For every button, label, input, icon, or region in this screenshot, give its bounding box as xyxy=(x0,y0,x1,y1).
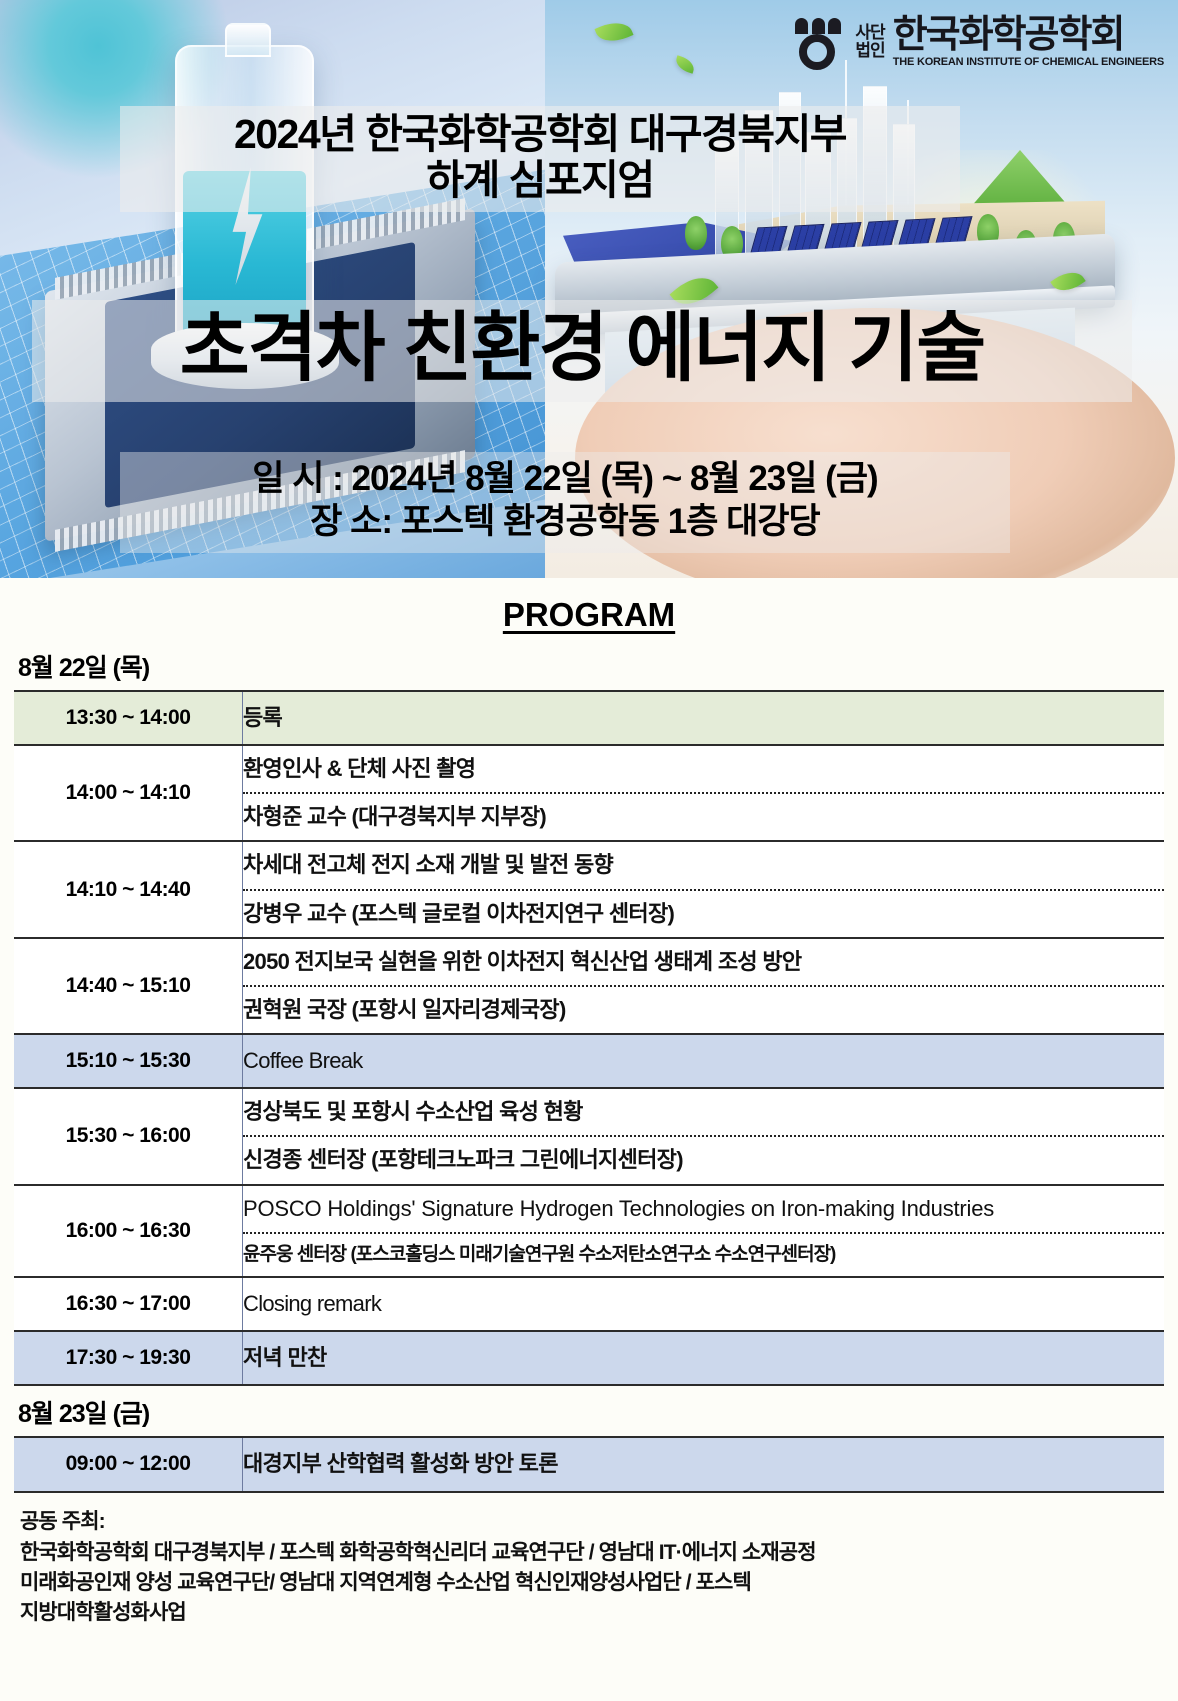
row-session-title: 등록 xyxy=(243,692,1164,744)
row-body: 저녁 만찬 xyxy=(243,1331,1165,1385)
row-session-title: POSCO Holdings' Signature Hydrogen Techn… xyxy=(243,1186,1164,1232)
row-body: 차세대 전고체 전지 소재 개발 및 발전 동향 강병우 교수 (포스텍 글로컬… xyxy=(243,841,1165,937)
logo-sadan-line1: 사단 xyxy=(855,24,884,42)
schedule-table-day2: 09:00 ~ 12:00 대경지부 산학협력 활성화 방안 토론 xyxy=(14,1436,1164,1492)
emblem-bumps xyxy=(795,18,841,34)
logo-english-name: THE KOREAN INSTITUTE OF CHEMICAL ENGINEE… xyxy=(893,56,1164,68)
logo-name-block: 한국화학공학회 THE KOREAN INSTITUTE OF CHEMICAL… xyxy=(893,16,1164,68)
row-session-title: 경상북도 및 포항시 수소산업 육성 현황 xyxy=(243,1089,1164,1135)
table-row: 14:00 ~ 14:10 환영인사 & 단체 사진 촬영 차형준 교수 (대구… xyxy=(14,745,1164,841)
table-row: 14:40 ~ 15:10 2050 전지보국 실현을 위한 이차전지 혁신산업… xyxy=(14,938,1164,1034)
row-body: 경상북도 및 포항시 수소산업 육성 현황 신경종 센터장 (포항테크노파크 그… xyxy=(243,1088,1165,1184)
row-speaker: 윤주웅 센터장 (포스코홀딩스 미래기술연구원 수소저탄소연구소 수소연구센터장… xyxy=(243,1232,1164,1276)
row-session-title: 대경지부 산학협력 활성화 방안 토론 xyxy=(243,1438,1164,1490)
event-subject-text: 초격차 친환경 에너지 기술 xyxy=(32,308,1132,390)
row-speaker: 권혁원 국장 (포항시 일자리경제국장) xyxy=(243,985,1164,1033)
event-location: 장 소: 포스텍 환경공학동 1층 대강당 xyxy=(120,501,1010,544)
row-session-title: 차세대 전고체 전지 소재 개발 및 발전 동향 xyxy=(243,842,1164,888)
row-body: 대경지부 산학협력 활성화 방안 토론 xyxy=(243,1437,1165,1491)
leaf-icon xyxy=(594,16,633,47)
row-body: 환영인사 & 단체 사진 촬영 차형준 교수 (대구경북지부 지부장) xyxy=(243,745,1165,841)
row-time: 14:00 ~ 14:10 xyxy=(14,745,243,841)
kiche-emblem-icon xyxy=(791,14,847,70)
row-body: POSCO Holdings' Signature Hydrogen Techn… xyxy=(243,1185,1165,1277)
row-session-title: Coffee Break xyxy=(243,1035,1164,1087)
event-info: 일 시 : 2024년 8월 22일 (목) ~ 8월 23일 (금) 장 소:… xyxy=(120,452,1010,553)
row-time: 17:30 ~ 19:30 xyxy=(14,1331,243,1385)
table-row: 09:00 ~ 12:00 대경지부 산학협력 활성화 방안 토론 xyxy=(14,1437,1164,1491)
row-time: 16:30 ~ 17:00 xyxy=(14,1277,243,1331)
program-section: PROGRAM 8월 22일 (목) 13:30 ~ 14:00 등록 14:0… xyxy=(0,596,1178,1628)
row-body: 등록 xyxy=(243,691,1165,745)
row-time: 14:40 ~ 15:10 xyxy=(14,938,243,1034)
schedule-table-day1: 13:30 ~ 14:00 등록 14:00 ~ 14:10 환영인사 & 단체… xyxy=(14,690,1164,1386)
cohost-footer: 공동 주최: 한국화학공학회 대구경북지부 / 포스텍 화학공학혁신리더 교육연… xyxy=(20,1507,1164,1628)
table-row: 14:10 ~ 14:40 차세대 전고체 전지 소재 개발 및 발전 동향 강… xyxy=(14,841,1164,937)
row-session-title: 환영인사 & 단체 사진 촬영 xyxy=(243,746,1164,792)
table-row: 16:30 ~ 17:00 Closing remark xyxy=(14,1277,1164,1331)
row-session-title: 2050 전지보국 실현을 위한 이차전지 혁신산업 생태계 조성 방안 xyxy=(243,939,1164,985)
event-datetime: 일 시 : 2024년 8월 22일 (목) ~ 8월 23일 (금) xyxy=(120,458,1010,501)
logo-corporation-label: 사단 법인 xyxy=(855,24,884,61)
row-speaker: 신경종 센터장 (포항테크노파크 그린에너지센터장) xyxy=(243,1135,1164,1183)
row-body: 2050 전지보국 실현을 위한 이차전지 혁신산업 생태계 조성 방안 권혁원… xyxy=(243,938,1165,1034)
row-body: Closing remark xyxy=(243,1277,1165,1331)
row-time: 13:30 ~ 14:00 xyxy=(14,691,243,745)
cohost-line-1: 한국화학공학회 대구경북지부 / 포스텍 화학공학혁신리더 교육연구단 / 영남… xyxy=(20,1538,1164,1568)
kiche-logo: 사단 법인 한국화학공학회 THE KOREAN INSTITUTE OF CH… xyxy=(791,14,1164,70)
logo-sadan-line2: 법인 xyxy=(855,42,884,60)
event-title-line1: 2024년 한국화학공학회 대구경북지부 xyxy=(120,112,960,158)
row-time: 15:10 ~ 15:30 xyxy=(14,1034,243,1088)
row-time: 09:00 ~ 12:00 xyxy=(14,1437,243,1491)
poster-page: 사단 법인 한국화학공학회 THE KOREAN INSTITUTE OF CH… xyxy=(0,0,1178,1701)
tree-icon xyxy=(685,216,707,250)
event-subject: 초격차 친환경 에너지 기술 xyxy=(32,300,1132,402)
table-row: 13:30 ~ 14:00 등록 xyxy=(14,691,1164,745)
row-time: 14:10 ~ 14:40 xyxy=(14,841,243,937)
row-session-title: Closing remark xyxy=(243,1278,1164,1330)
event-title-line2: 하계 심포지엄 xyxy=(120,158,960,204)
row-time: 16:00 ~ 16:30 xyxy=(14,1185,243,1277)
cohost-line-3: 지방대학활성화사업 xyxy=(20,1598,1164,1628)
program-heading: PROGRAM xyxy=(14,596,1164,634)
poster-banner: 사단 법인 한국화학공학회 THE KOREAN INSTITUTE OF CH… xyxy=(0,0,1178,578)
row-time: 15:30 ~ 16:00 xyxy=(14,1088,243,1184)
day-heading-2: 8월 23일 (금) xyxy=(18,1394,1164,1430)
cohost-line-2: 미래화공인재 양성 교육연구단/ 영남대 지역연계형 수소산업 혁신인재양성사업… xyxy=(20,1568,1164,1598)
emblem-ring xyxy=(799,34,835,70)
row-speaker: 차형준 교수 (대구경북지부 지부장) xyxy=(243,792,1164,840)
logo-korean-name: 한국화학공학회 xyxy=(893,16,1164,54)
cohost-label: 공동 주최: xyxy=(20,1507,1164,1537)
table-row: 16:00 ~ 16:30 POSCO Holdings' Signature … xyxy=(14,1185,1164,1277)
day-heading-1: 8월 22일 (목) xyxy=(18,648,1164,684)
table-row: 17:30 ~ 19:30 저녁 만찬 xyxy=(14,1331,1164,1385)
row-body: Coffee Break xyxy=(243,1034,1165,1088)
row-speaker: 강병우 교수 (포스텍 글로컬 이차전지연구 센터장) xyxy=(243,889,1164,937)
battery-cap xyxy=(225,23,271,57)
event-title: 2024년 한국화학공학회 대구경북지부 하계 심포지엄 xyxy=(120,106,960,212)
row-session-title: 저녁 만찬 xyxy=(243,1332,1164,1384)
leaf-icon xyxy=(673,55,696,74)
table-row: 15:30 ~ 16:00 경상북도 및 포항시 수소산업 육성 현황 신경종 … xyxy=(14,1088,1164,1184)
table-row: 15:10 ~ 15:30 Coffee Break xyxy=(14,1034,1164,1088)
